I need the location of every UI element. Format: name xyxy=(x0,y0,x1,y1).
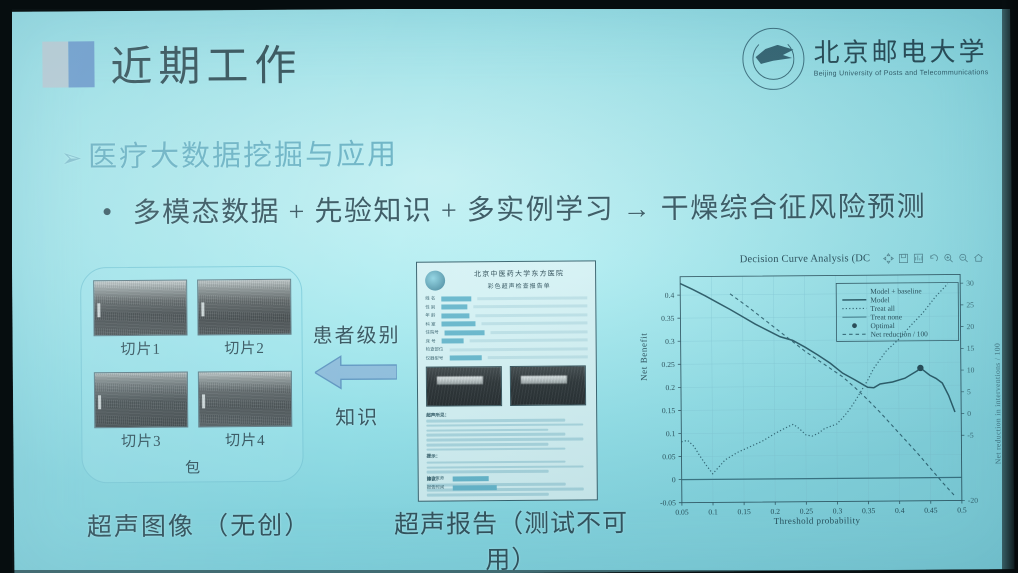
dot-bullet-icon xyxy=(104,208,111,215)
svg-text:15: 15 xyxy=(967,344,975,353)
report-text-line xyxy=(426,419,565,423)
svg-text:0.3: 0.3 xyxy=(665,337,675,346)
decision-curve-analysis-chart: Decision Curve Analysis (DC xyxy=(640,252,1012,537)
svg-text:25: 25 xyxy=(966,300,974,309)
left-arrow-icon xyxy=(315,354,397,391)
chart-optimal-point xyxy=(917,365,923,371)
report-text-line xyxy=(426,423,583,427)
svg-text:0.15: 0.15 xyxy=(662,406,676,415)
svg-text:30: 30 xyxy=(966,279,974,288)
hospital-seal-icon xyxy=(425,270,445,290)
bullet-level1-text: 医疗大数据挖掘与应用 xyxy=(88,131,398,175)
report-field-key: 检查部位 xyxy=(426,347,444,353)
report-text-line xyxy=(426,428,548,432)
ultrasound-image-4 xyxy=(198,371,292,428)
chart-series-net-reduction-100 xyxy=(730,292,956,499)
report-field-filler xyxy=(473,304,587,308)
report-field-redacted-value xyxy=(441,304,467,309)
svg-text:20: 20 xyxy=(966,322,974,331)
report-field-key: 床 号 xyxy=(426,338,436,344)
report-footer-row: 检查医师 xyxy=(427,474,589,481)
chart-plot-area: 0.050.10.150.20.250.30.350.40.450.5-0.05… xyxy=(640,252,1012,537)
report-ultrasound-image-1 xyxy=(426,366,502,407)
report-field-redacted-value xyxy=(445,330,485,335)
report-field-row: 检查部位 xyxy=(426,345,588,352)
bullet-level2: 多模态数据 + 先验知识 + 多实例学习 → 干燥综合征风险预测 xyxy=(103,185,926,231)
arrow-bottom-label: 知识 xyxy=(335,401,379,430)
svg-text:0: 0 xyxy=(672,475,676,484)
report-footer-redacted-value xyxy=(452,485,496,490)
report-field-row: 姓 名 xyxy=(425,294,587,301)
svg-text:0.45: 0.45 xyxy=(924,506,938,515)
report-field-key: 姓 名 xyxy=(425,296,435,302)
report-field-key: 仪器型号 xyxy=(426,355,444,361)
report-field-redacted-value xyxy=(441,321,475,326)
ultrasound-slice: 切片2 xyxy=(197,279,292,352)
university-logo: 北京邮电大学 Beijing University of Posts and T… xyxy=(742,26,988,90)
svg-text:5: 5 xyxy=(967,387,971,396)
photo-edge-top xyxy=(0,0,1018,9)
ultrasound-image-1 xyxy=(93,280,187,337)
chart-x-axis-label: Threshold probability xyxy=(682,515,952,527)
photo-edge-left xyxy=(0,0,12,573)
report-field-redacted-value xyxy=(441,313,469,318)
svg-text:-0.05: -0.05 xyxy=(660,498,676,507)
chart-legend-label: Net reduction / 100 xyxy=(871,329,929,338)
report-footer-redacted-value xyxy=(452,476,488,481)
svg-text:0.25: 0.25 xyxy=(661,360,675,369)
svg-text:0.2: 0.2 xyxy=(665,383,675,392)
report-field-key: 科 室 xyxy=(425,321,435,327)
svg-text:0.35: 0.35 xyxy=(862,506,876,515)
ultrasound-report-document: 北京中医药大学东方医院 彩色超声检查报告单 姓 名性 别年 龄科 室住院号床 号… xyxy=(416,260,598,501)
slide-surface: 近期工作 北京邮电大学 Beijing University of Posts … xyxy=(10,4,1014,573)
report-text-line xyxy=(426,433,565,437)
report-field-row: 仪器型号 xyxy=(426,354,588,361)
report-field-row: 性 别 xyxy=(425,303,587,310)
report-text-line xyxy=(427,465,584,469)
ultrasound-bag-panel: 切片1 切片2 切片3 切片4 包 xyxy=(80,266,304,484)
ultrasound-caption: 超声图像 （无创） xyxy=(74,505,324,543)
chart-y-axis-label: Net Benefit xyxy=(639,333,649,381)
svg-text:0.2: 0.2 xyxy=(771,507,781,516)
report-caption: 超声报告（测试不可用） xyxy=(386,503,637,573)
report-field-redacted-value xyxy=(449,355,481,360)
report-section-heading: 提示： xyxy=(426,453,588,460)
report-field-filler xyxy=(487,355,587,359)
report-field-key: 年 龄 xyxy=(425,313,435,319)
bag-label: 包 xyxy=(83,456,303,479)
svg-text:0.3: 0.3 xyxy=(833,506,843,515)
report-footer: 检查医师报告时间 xyxy=(427,474,589,493)
ultrasound-slice: 切片4 xyxy=(198,371,293,444)
title-marker-icon xyxy=(42,41,94,87)
svg-text:0.35: 0.35 xyxy=(661,314,675,323)
slice-label-2: 切片2 xyxy=(198,337,292,359)
report-text-line xyxy=(426,447,565,451)
report-field-redacted-value xyxy=(442,338,464,343)
photo-edge-right xyxy=(1002,0,1018,573)
report-field-filler xyxy=(477,296,587,300)
report-header: 北京中医药大学东方医院 彩色超声检查报告单 xyxy=(425,268,587,290)
ultrasound-image-2 xyxy=(197,279,291,336)
report-field-filler xyxy=(481,321,587,325)
arrow-top-label: 患者级别 xyxy=(312,319,400,349)
ultrasound-slice: 切片1 xyxy=(93,280,188,353)
chart-series-treat-none xyxy=(682,477,962,479)
report-text-line xyxy=(427,460,566,464)
svg-text:0.05: 0.05 xyxy=(662,452,676,461)
logo-chinese-name: 北京邮电大学 xyxy=(813,39,988,68)
svg-text:0.1: 0.1 xyxy=(708,507,718,516)
report-doc-title: 彩色超声检查报告单 xyxy=(451,280,587,290)
report-field-key: 住院号 xyxy=(426,330,439,336)
chart-series-model xyxy=(680,281,955,414)
slice-label-3: 切片3 xyxy=(94,430,188,452)
report-field-filler xyxy=(449,347,587,351)
ultrasound-image-3 xyxy=(94,372,188,429)
logo-english-name: Beijing University of Posts and Telecomm… xyxy=(814,69,989,77)
report-field-row: 科 室 xyxy=(425,320,587,327)
report-field-filler xyxy=(470,338,588,342)
report-hospital-name: 北京中医药大学东方医院 xyxy=(451,268,587,279)
report-field-row: 床 号 xyxy=(426,337,588,344)
report-footer-row: 报告时间 xyxy=(427,483,589,490)
report-text-line xyxy=(426,443,548,447)
projected-slide-photo: 近期工作 北京邮电大学 Beijing University of Posts … xyxy=(0,0,1018,573)
svg-text:0.1: 0.1 xyxy=(666,429,676,438)
report-ultrasound-image-2 xyxy=(510,365,586,406)
report-field-key: 性 别 xyxy=(425,304,435,310)
svg-text:0: 0 xyxy=(967,409,971,418)
report-text-line xyxy=(426,438,583,442)
report-text-line xyxy=(427,470,549,474)
svg-text:0.25: 0.25 xyxy=(800,507,814,516)
report-field-row: 住院号 xyxy=(426,328,588,335)
report-footer-key: 检查医师 xyxy=(427,476,445,482)
bupt-seal-icon xyxy=(742,28,804,90)
ultrasound-slice: 切片3 xyxy=(94,372,189,445)
report-field-filler xyxy=(475,313,587,317)
svg-text:0.05: 0.05 xyxy=(675,508,689,517)
page-title: 近期工作 xyxy=(110,32,302,95)
report-field-list: 姓 名性 别年 龄科 室住院号床 号检查部位仪器型号 xyxy=(425,294,588,361)
report-field-filler xyxy=(491,330,588,334)
arrow-bullet-icon: ➢ xyxy=(61,143,84,173)
svg-text:0.4: 0.4 xyxy=(895,506,905,515)
ultrasound-slice-grid: 切片1 切片2 切片3 切片4 xyxy=(93,279,292,467)
svg-text:0.5: 0.5 xyxy=(957,505,967,514)
report-footer-key: 报告时间 xyxy=(427,485,445,491)
slice-label-1: 切片1 xyxy=(94,338,188,360)
svg-text:0.4: 0.4 xyxy=(665,291,675,300)
chart-series-treat-all xyxy=(680,284,949,474)
svg-text:-5: -5 xyxy=(967,431,974,440)
report-field-row: 年 龄 xyxy=(425,311,587,318)
bullet-level2-text: 多模态数据 + 先验知识 + 多实例学习 → 干燥综合征风险预测 xyxy=(132,185,926,231)
report-section-heading: 超声所见： xyxy=(426,411,588,418)
svg-text:0.15: 0.15 xyxy=(738,507,752,516)
report-image-row xyxy=(426,365,588,406)
report-field-redacted-value xyxy=(441,296,471,301)
slice-label-4: 切片4 xyxy=(198,429,292,451)
bullet-level1: ➢ 医疗大数据挖掘与应用 xyxy=(61,131,398,176)
svg-text:10: 10 xyxy=(967,365,975,374)
svg-text:-20: -20 xyxy=(968,496,978,505)
